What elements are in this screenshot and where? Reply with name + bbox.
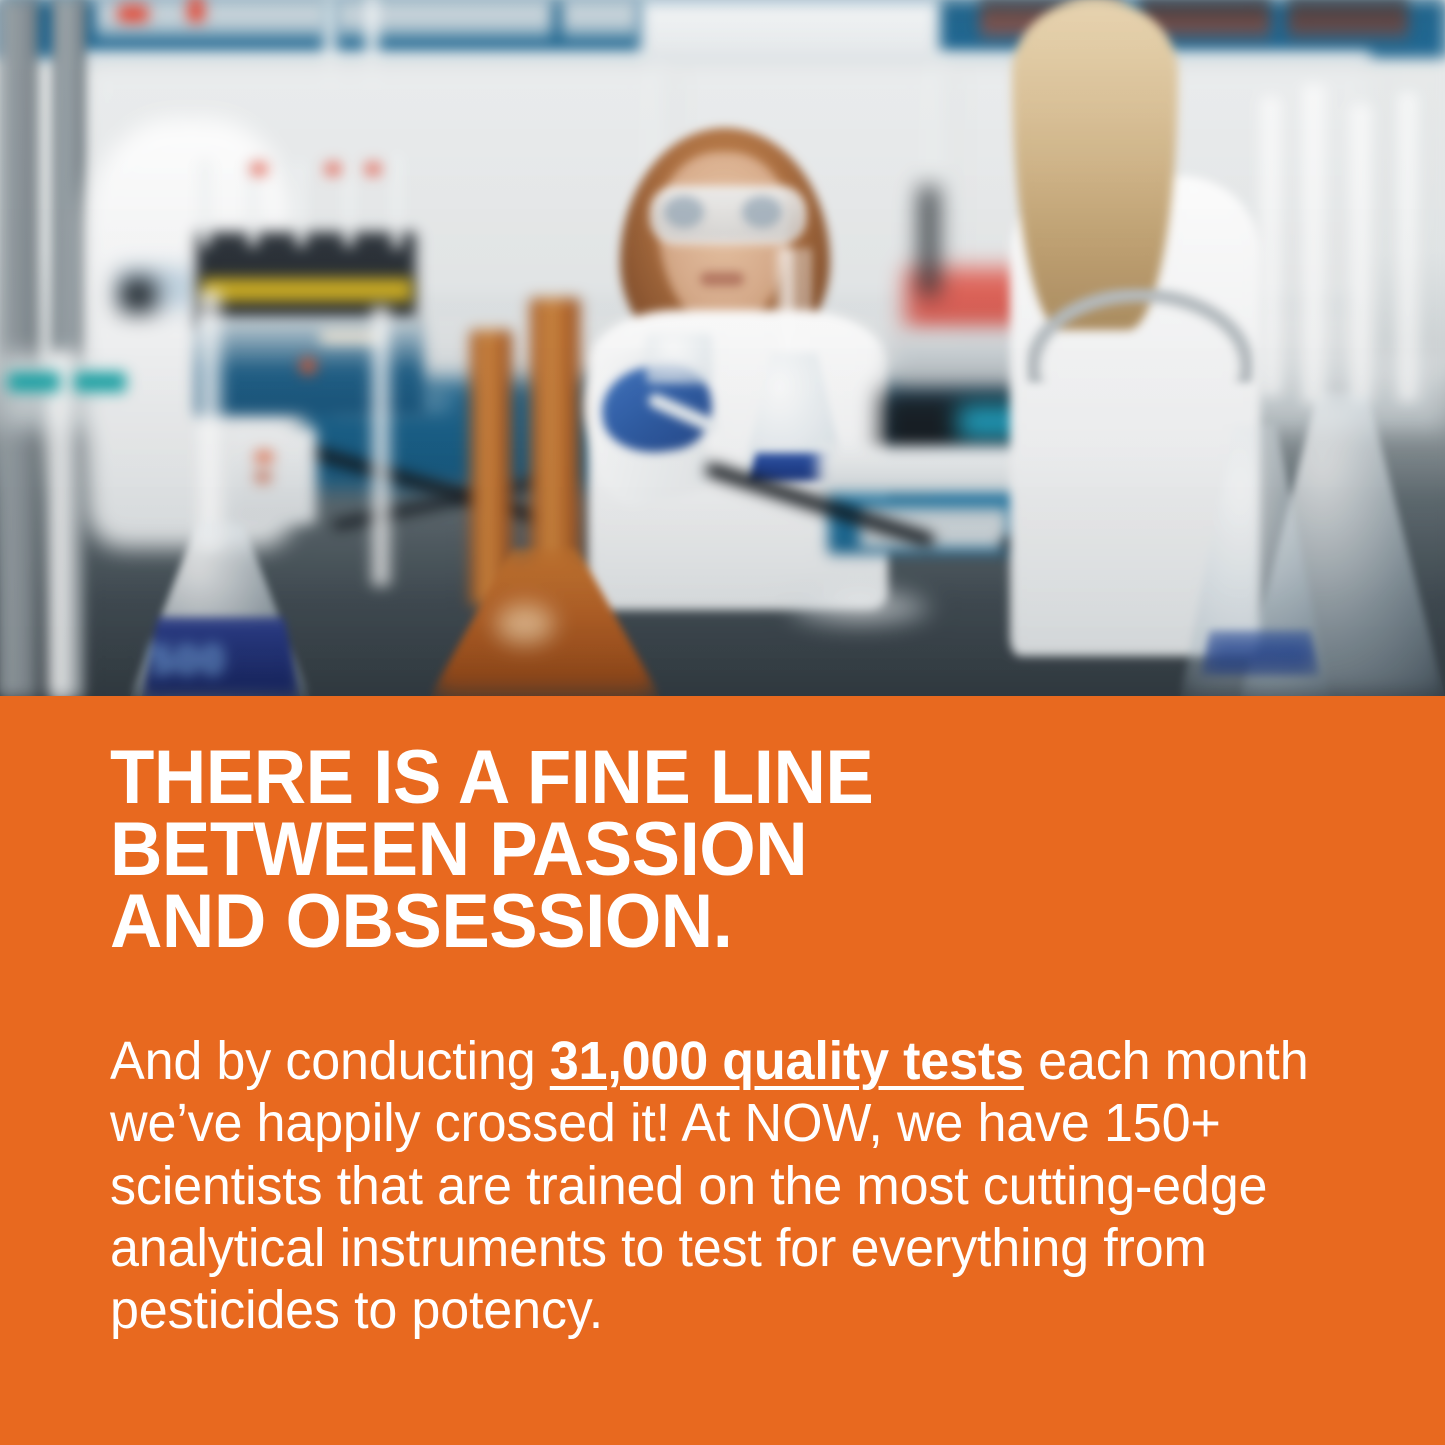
orange-message-panel: THERE IS A FINE LINE BETWEEN PASSION AND… <box>0 696 1445 1445</box>
body-text-before: And by conducting <box>110 1031 550 1091</box>
promo-card: 500 THERE IS A FINE LINE BETWEEN PASSION… <box>0 0 1445 1445</box>
body-paragraph: And by conducting 31,000 quality tests e… <box>110 1030 1316 1342</box>
quality-tests-emphasis: 31,000 quality tests <box>550 1031 1024 1091</box>
photo-tone-overlay <box>0 0 1445 696</box>
laboratory-scientists-photo: 500 <box>0 0 1445 696</box>
page-title: THERE IS A FINE LINE BETWEEN PASSION AND… <box>110 742 1313 957</box>
